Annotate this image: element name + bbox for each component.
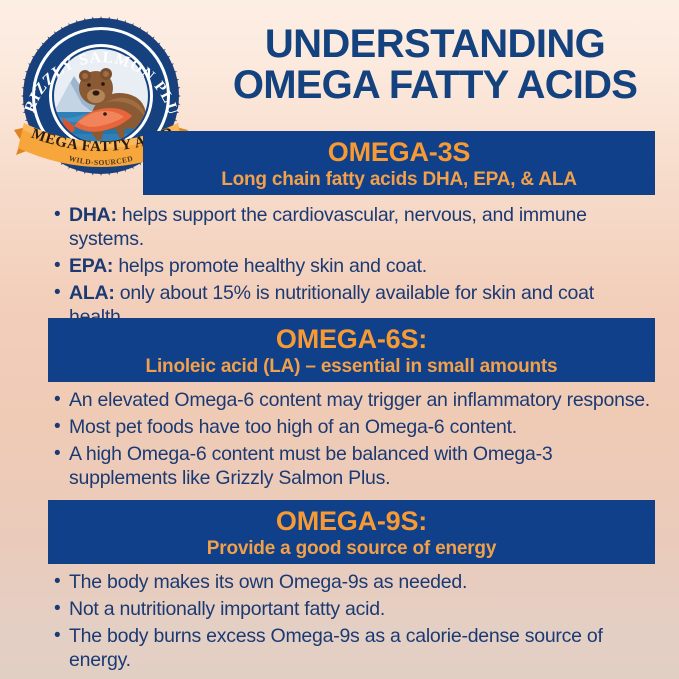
list-item-lead: EPA: bbox=[69, 255, 113, 277]
bullet-dot-icon: • bbox=[54, 254, 69, 278]
bullet-dot-icon: • bbox=[54, 597, 69, 621]
page-title: UNDERSTANDING OMEGA FATTY ACIDS bbox=[196, 24, 674, 106]
section-subheading-omega6: Linoleic acid (LA) – essential in small … bbox=[49, 354, 654, 379]
list-item: •A high Omega-6 content must be balanced… bbox=[54, 442, 659, 490]
list-item-text: DHA: helps support the cardiovascular, n… bbox=[69, 203, 654, 251]
list-item-text: The body burns excess Omega-9s as a calo… bbox=[69, 624, 659, 672]
list-item-lead: ALA: bbox=[69, 282, 115, 304]
section-subheading-omega3: Long chain fatty acids DHA, EPA, & ALA bbox=[144, 167, 654, 192]
infographic-poster: GRIZZLY SALMON PLUS OMEGA FATTY ACIDS WI… bbox=[0, 0, 679, 679]
bullet-list-omega3: •DHA: helps support the cardiovascular, … bbox=[54, 203, 654, 332]
page-title-line-1: UNDERSTANDING bbox=[196, 24, 674, 65]
bullet-dot-icon: • bbox=[54, 388, 69, 412]
section-heading-omega3: OMEGA-3S bbox=[144, 137, 654, 167]
list-item-text: A high Omega-6 content must be balanced … bbox=[69, 442, 659, 490]
list-item: •The body burns excess Omega-9s as a cal… bbox=[54, 624, 659, 672]
bullet-list-omega9: •The body makes its own Omega-9s as need… bbox=[54, 570, 659, 675]
list-item: •Not a nutritionally important fatty aci… bbox=[54, 597, 659, 621]
bullet-dot-icon: • bbox=[54, 624, 69, 648]
list-item-text: An elevated Omega-6 content may trigger … bbox=[69, 388, 659, 412]
list-item: •An elevated Omega-6 content may trigger… bbox=[54, 388, 659, 412]
list-item-text: The body makes its own Omega-9s as neede… bbox=[69, 570, 659, 594]
list-item-text: EPA: helps promote healthy skin and coat… bbox=[69, 254, 654, 278]
list-item: •EPA: helps promote healthy skin and coa… bbox=[54, 254, 654, 278]
list-item-lead: DHA: bbox=[69, 204, 117, 226]
section-header-omega9: OMEGA-9S: Provide a good source of energ… bbox=[48, 500, 655, 564]
list-item-text: Most pet foods have too high of an Omega… bbox=[69, 415, 659, 439]
list-item: •DHA: helps support the cardiovascular, … bbox=[54, 203, 654, 251]
bullet-dot-icon: • bbox=[54, 281, 69, 305]
list-item: •Most pet foods have too high of an Omeg… bbox=[54, 415, 659, 439]
section-heading-omega9: OMEGA-9S: bbox=[49, 506, 654, 536]
list-item-text: Not a nutritionally important fatty acid… bbox=[69, 597, 659, 621]
section-header-omega3: OMEGA-3S Long chain fatty acids DHA, EPA… bbox=[143, 131, 655, 195]
bullet-dot-icon: • bbox=[54, 203, 69, 227]
bullet-dot-icon: • bbox=[54, 570, 69, 594]
bullet-dot-icon: • bbox=[54, 415, 69, 439]
bullet-list-omega6: •An elevated Omega-6 content may trigger… bbox=[54, 388, 659, 493]
list-item: •The body makes its own Omega-9s as need… bbox=[54, 570, 659, 594]
section-subheading-omega9: Provide a good source of energy bbox=[49, 536, 654, 561]
section-header-omega6: OMEGA-6S: Linoleic acid (LA) – essential… bbox=[48, 318, 655, 382]
page-title-line-2: OMEGA FATTY ACIDS bbox=[196, 65, 674, 106]
section-heading-omega6: OMEGA-6S: bbox=[49, 324, 654, 354]
bullet-dot-icon: • bbox=[54, 442, 69, 466]
